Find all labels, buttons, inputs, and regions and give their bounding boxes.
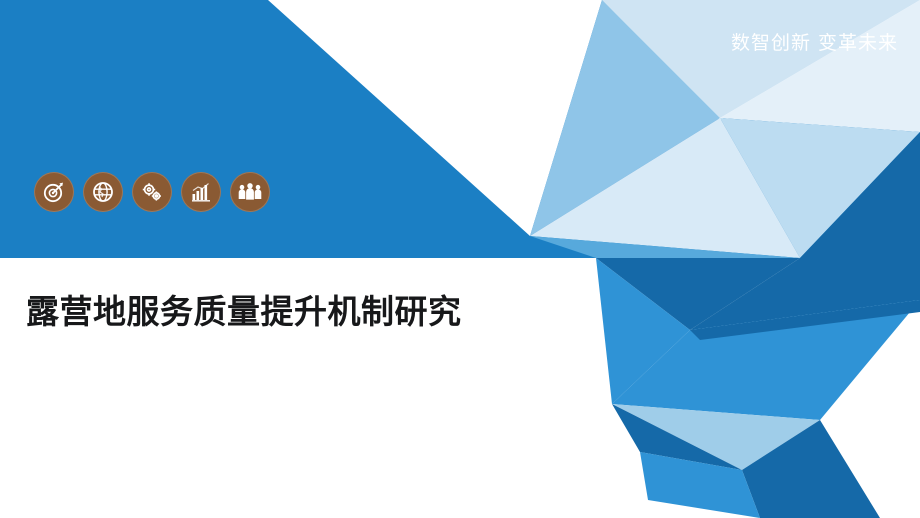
globe-icon — [83, 172, 123, 212]
icon-row — [34, 172, 270, 212]
polygonal-decoration — [0, 0, 920, 518]
gears-icon — [132, 172, 172, 212]
people-group-icon — [230, 172, 270, 212]
bar-chart-icon — [181, 172, 221, 212]
title-slide: 数智创新 变革未来 — [0, 0, 920, 518]
page-title: 露营地服务质量提升机制研究 — [26, 288, 546, 336]
slide-tagline: 数智创新 变革未来 — [731, 28, 898, 55]
target-arrow-icon — [34, 172, 74, 212]
